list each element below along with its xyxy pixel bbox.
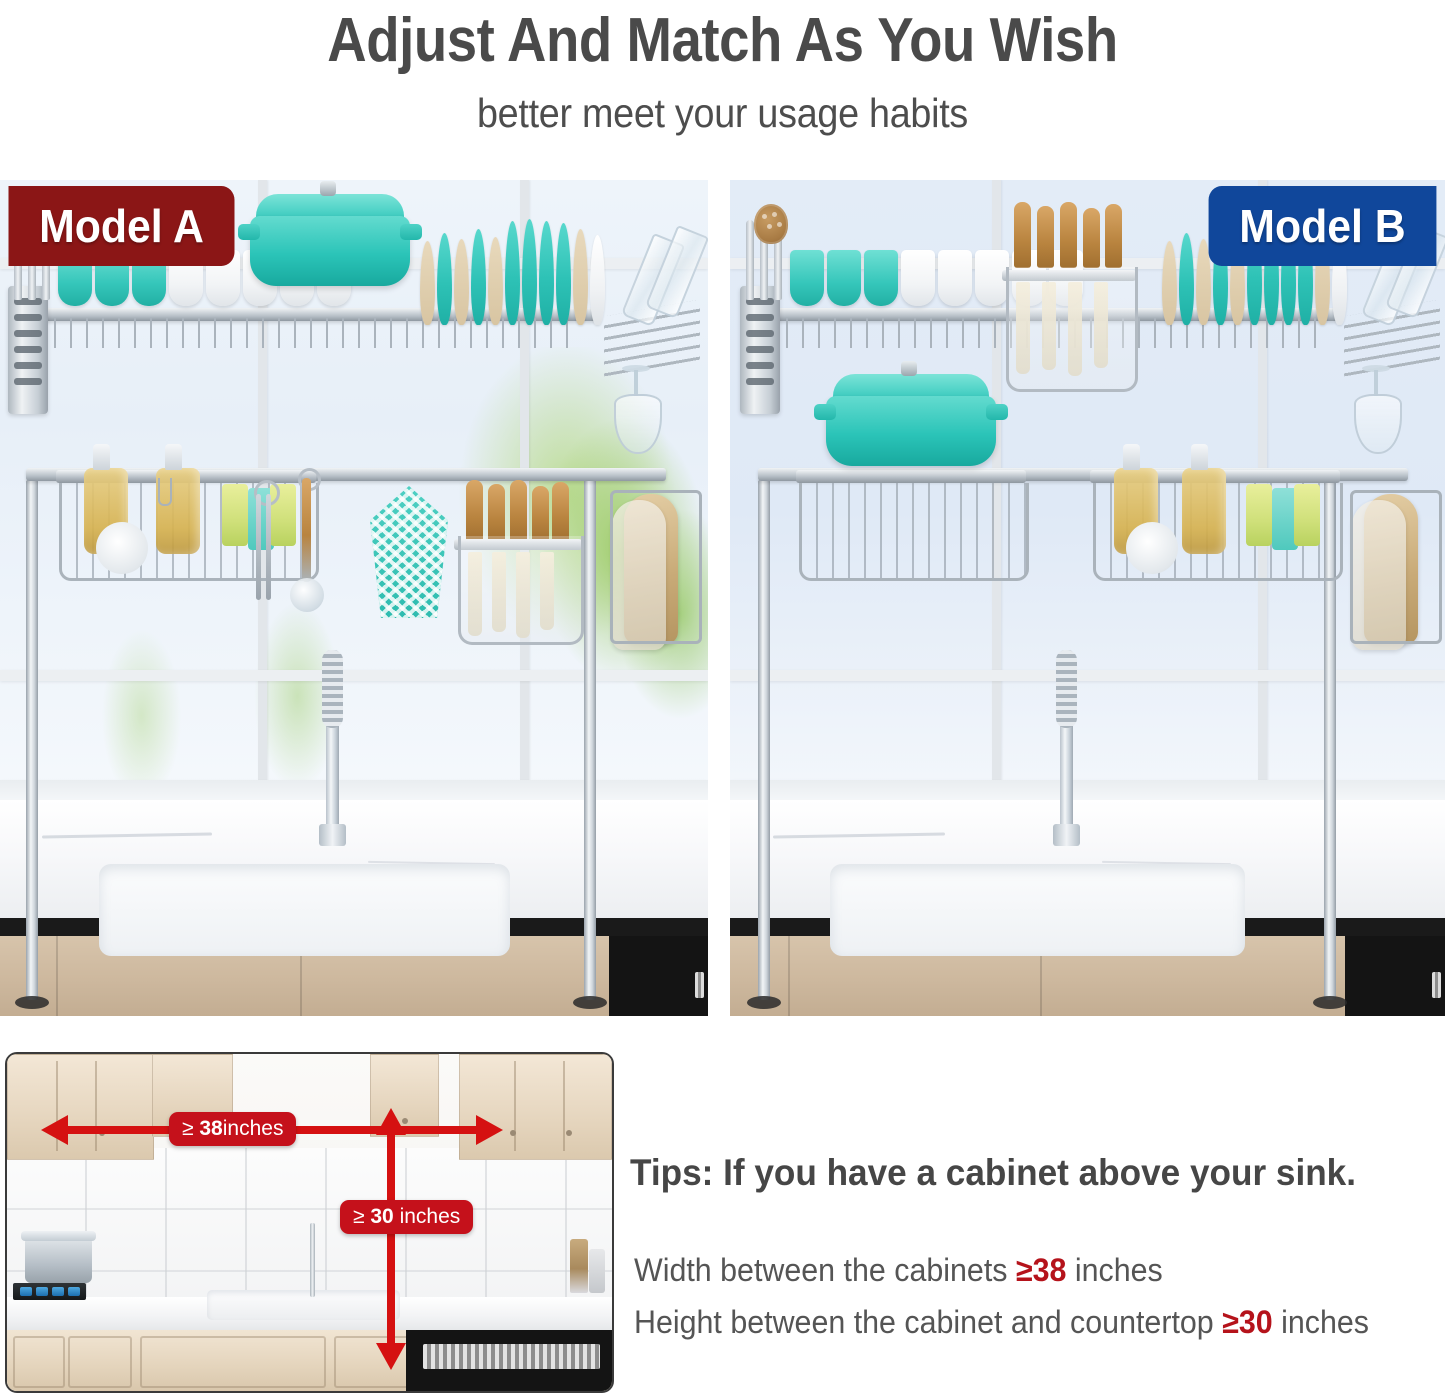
knife-block-b — [1006, 202, 1132, 392]
tips-line-width: Width between the cabinets ≥38 inches — [634, 1252, 1163, 1289]
plate-rack-a — [420, 215, 605, 325]
height-label-value: 30 — [370, 1205, 393, 1228]
diagram-cooktop — [13, 1283, 86, 1300]
utensil-holder-b — [740, 286, 780, 414]
vent-grille-icon — [695, 972, 704, 998]
diagram-dishwasher — [406, 1330, 612, 1391]
tips-line-width-before: Width between the cabinets — [634, 1252, 1016, 1288]
wooden-spoon-icon — [754, 204, 788, 244]
diagram-sink — [207, 1290, 401, 1320]
model-b-photo — [730, 180, 1445, 1016]
rack-post-left-b — [758, 480, 770, 1000]
vent-grille-icon — [1432, 972, 1441, 998]
rack-hook-icon — [158, 478, 172, 506]
dishwasher-b — [1345, 936, 1445, 1016]
cutting-board-holder-a — [618, 480, 688, 660]
rack-foot-icon — [573, 996, 607, 1009]
diagram-salt-shaker — [589, 1249, 605, 1293]
wine-glass-icon — [1354, 370, 1398, 450]
width-dimension-label: ≥ 38inches — [169, 1112, 296, 1146]
rack-foot-icon — [15, 996, 49, 1009]
diagram-faucet — [310, 1223, 315, 1297]
cutting-board-holder-b — [1358, 480, 1428, 660]
bottom-section: ≥ 38inches ≥ 30 inches Tips: If you have… — [0, 1043, 1445, 1394]
diagram-kitchen-scene — [7, 1054, 612, 1391]
cabinet-measurement-diagram: ≥ 38inches ≥ 30 inches — [5, 1052, 614, 1393]
soap-bottle-icon — [1182, 468, 1226, 554]
diagram-stock-pot — [25, 1239, 92, 1283]
tips-line-width-highlight: ≥38 — [1016, 1252, 1066, 1288]
sink-basin-a — [99, 864, 510, 956]
diagram-pepper-mill — [570, 1239, 588, 1293]
wine-glass-icon — [614, 370, 658, 450]
model-a-badge: Model A — [9, 186, 235, 266]
tips-block: Tips: If you have a cabinet above your s… — [630, 1052, 1435, 1389]
width-label-unit: inches — [223, 1117, 284, 1140]
hanging-tongs-a — [250, 480, 278, 600]
vent-grille-icon — [423, 1344, 600, 1369]
small-plate-icon — [96, 522, 148, 574]
pot-basket-b — [796, 470, 1026, 578]
rack-foot-icon — [1313, 996, 1347, 1009]
soap-basket-b — [1090, 470, 1340, 578]
header: Adjust And Match As You Wish better meet… — [0, 0, 1445, 137]
dishwasher-a — [609, 936, 708, 1016]
rack-post-right-a — [584, 480, 596, 1000]
model-comparison-row — [0, 180, 1445, 1016]
tips-line-height-before: Height between the cabinet and counterto… — [634, 1304, 1222, 1340]
small-plate-icon — [1126, 522, 1178, 574]
window-mullion-icon — [0, 670, 708, 681]
height-label-prefix: ≥ — [353, 1205, 370, 1228]
utensil-holder-a — [8, 286, 48, 414]
page-title: Adjust And Match As You Wish — [87, 4, 1359, 72]
page-subtitle: better meet your usage habits — [58, 72, 1387, 137]
rack-post-left-a — [26, 480, 38, 1000]
tips-line-height-after: inches — [1273, 1304, 1369, 1340]
kitchen-scene-b — [730, 180, 1445, 1016]
faucet-a — [326, 650, 339, 830]
tips-line-height-highlight: ≥30 — [1222, 1304, 1272, 1340]
width-label-prefix: ≥ — [182, 1117, 199, 1140]
model-b-badge: Model B — [1209, 186, 1437, 266]
tips-line-height: Height between the cabinet and counterto… — [634, 1304, 1369, 1341]
height-dimension-label: ≥ 30 inches — [340, 1200, 473, 1234]
model-a-photo — [0, 180, 708, 1016]
dutch-oven-pot-b — [826, 370, 996, 485]
height-dimension-arrow — [387, 1134, 395, 1344]
sink-basin-b — [830, 864, 1245, 956]
hanging-ladle-a — [290, 478, 324, 628]
dutch-oven-pot-a — [250, 190, 410, 300]
faucet-b — [1060, 650, 1073, 830]
upper-cabinet-left — [7, 1054, 154, 1160]
window-mullion-icon — [730, 670, 1445, 681]
tips-line-width-after: inches — [1066, 1252, 1162, 1288]
rack-foot-icon — [747, 996, 781, 1009]
width-label-value: 38 — [199, 1117, 222, 1140]
kitchen-scene-a — [0, 180, 708, 1016]
tips-heading: Tips: If you have a cabinet above your s… — [630, 1152, 1356, 1194]
height-label-unit: inches — [394, 1205, 461, 1228]
knife-block-a — [458, 480, 578, 645]
